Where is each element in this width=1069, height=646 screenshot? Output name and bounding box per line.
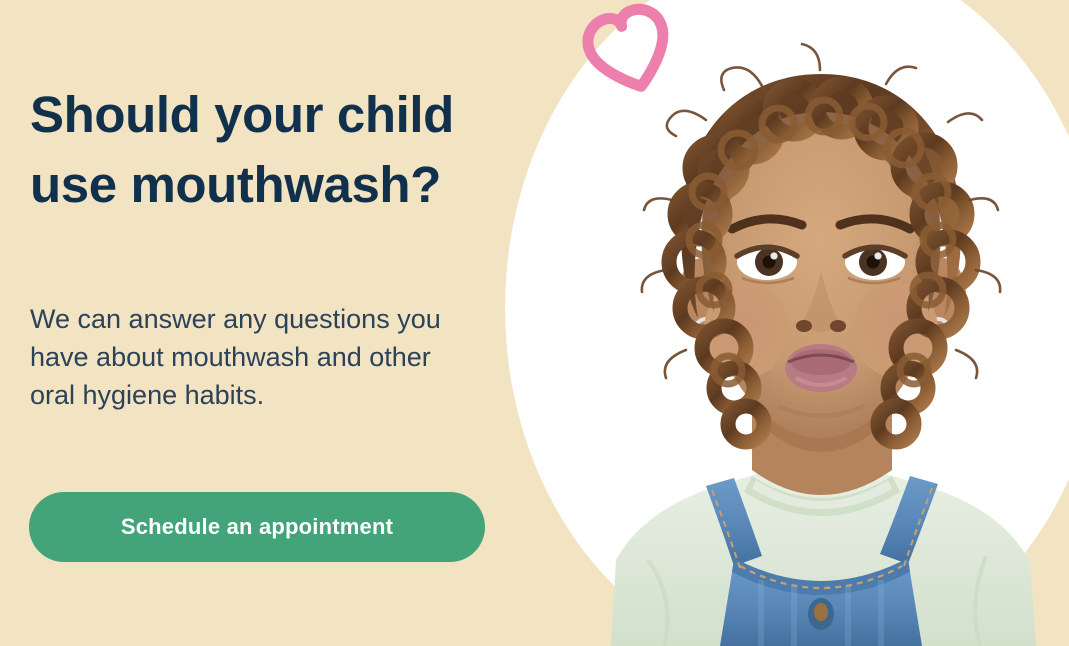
content-column: Should your child use mouthwash? We can … <box>0 0 560 646</box>
schedule-appointment-button[interactable]: Schedule an appointment <box>29 492 485 562</box>
promo-banner: Should your child use mouthwash? We can … <box>0 0 1069 646</box>
page-title: Should your child use mouthwash? <box>30 80 560 220</box>
subheading-text: We can answer any questions you have abo… <box>30 300 555 414</box>
